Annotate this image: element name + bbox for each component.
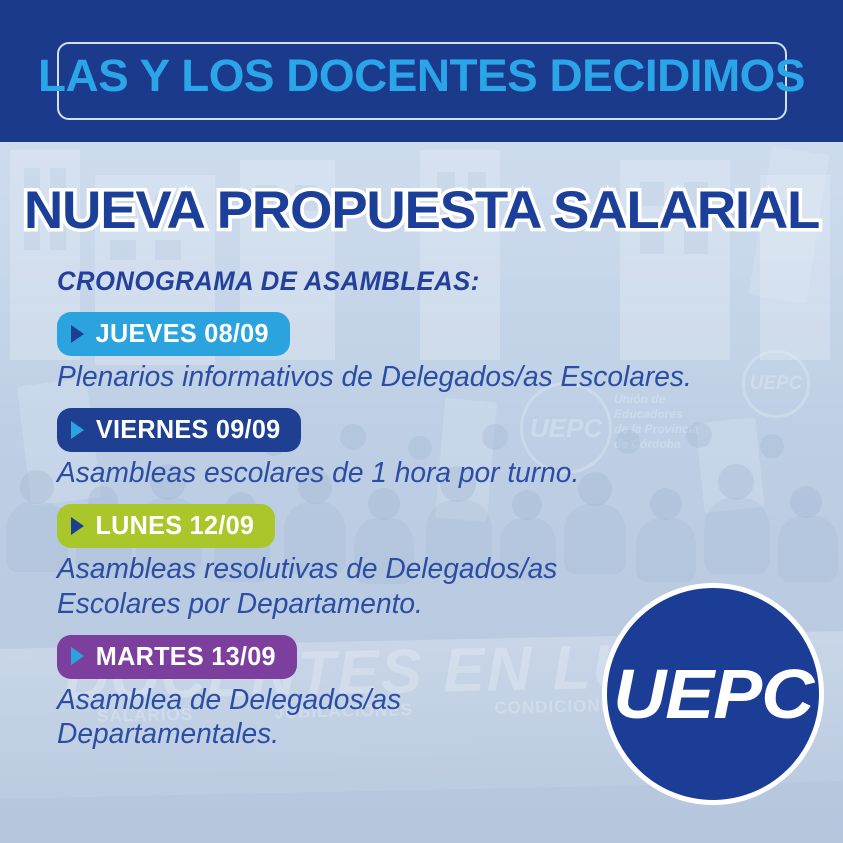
date-badge-label: MARTES 13/09 (96, 641, 276, 672)
schedule-item-viernes: VIERNES 09/09 Asambleas escolares de 1 h… (57, 408, 817, 490)
uepc-logo-text: UEPC (613, 654, 813, 734)
date-badge-lunes[interactable]: LUNES 12/09 (57, 504, 275, 548)
schedule-item-jueves: JUEVES 08/09 Plenarios informativos de D… (57, 312, 817, 394)
play-triangle-icon (71, 517, 84, 535)
date-badge-label: LUNES 12/09 (95, 510, 254, 541)
date-badge-label: VIERNES 09/09 (96, 414, 281, 445)
date-badge-viernes[interactable]: VIERNES 09/09 (57, 408, 301, 452)
header-band: LAS Y LOS DOCENTES DECIDIMOS (0, 0, 843, 142)
schedule-item-description: Asambleas escolares de 1 hora por turno. (57, 456, 726, 490)
play-triangle-icon (71, 421, 84, 439)
date-badge-jueves[interactable]: JUEVES 08/09 (57, 312, 290, 356)
schedule-item-description: Plenarios informativos de Delegados/as E… (57, 360, 726, 394)
date-badge-label: JUEVES 08/09 (96, 318, 269, 349)
poster-root: UEPC Unión de Educadores de la Provincia… (0, 0, 843, 843)
uepc-logo: UEPC (602, 583, 824, 805)
header-title: LAS Y LOS DOCENTES DECIDIMOS (0, 50, 843, 102)
play-triangle-icon (71, 325, 84, 343)
schedule-item-description: Asambleas resolutivas de Delegados/as Es… (57, 552, 726, 620)
page-title: NUEVA PROPUESTA SALARIAL (0, 180, 843, 241)
play-triangle-icon (71, 647, 84, 665)
date-badge-martes[interactable]: MARTES 13/09 (57, 635, 297, 679)
schedule-subtitle: CRONOGRAMA DE ASAMBLEAS: (57, 266, 480, 297)
